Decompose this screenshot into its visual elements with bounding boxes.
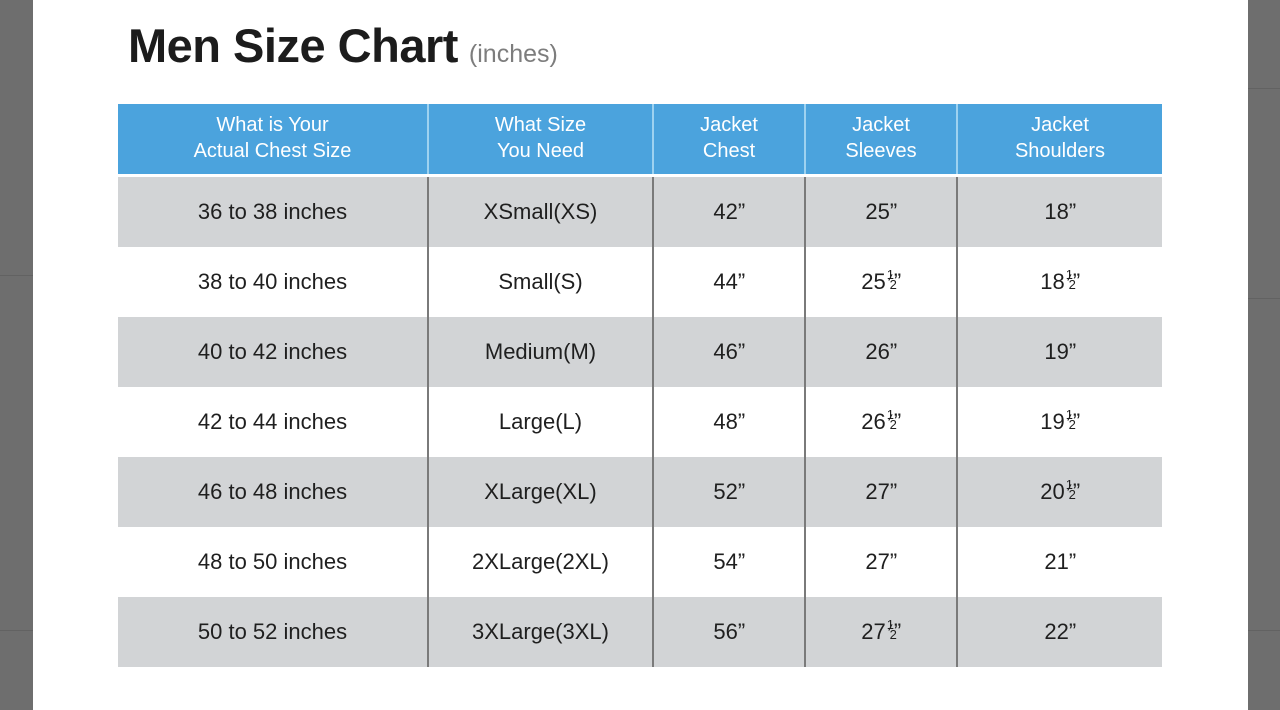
table-row: 48 to 50 inches2XLarge(2XL)54”27”21” [118,527,1162,597]
header-line-2: Chest [654,139,804,165]
cell-jacket-chest: 48” [653,387,805,457]
title-main-text: Men Size Chart [128,22,458,69]
header-line-2: You Need [429,139,652,165]
cell-actual-chest: 48 to 50 inches [118,527,428,597]
men-size-chart-table: What is Your Actual Chest Size What Size… [118,104,1162,667]
cell-jacket-chest: 56” [653,597,805,667]
table-row: 36 to 38 inchesXSmall(XS)42”25”18” [118,176,1162,248]
header-line-2: Actual Chest Size [118,139,427,165]
cell-jacket-sleeves: 25” [805,176,957,248]
title-unit-text: (inches) [469,42,558,67]
cell-jacket-sleeves: 2512” [805,247,957,317]
cell-jacket-sleeves: 2712” [805,597,957,667]
cell-jacket-shoulders: 1812” [957,247,1162,317]
cell-size-needed: Large(L) [428,387,653,457]
letterbox-bar-left [0,0,33,710]
cell-jacket-chest: 52” [653,457,805,527]
cell-jacket-shoulders: 19” [957,317,1162,387]
column-header-jacket-shoulders: Jacket Shoulders [957,104,1162,176]
header-line-2: Sleeves [806,139,956,165]
header-line-2: Shoulders [958,139,1162,165]
cell-size-needed: Medium(M) [428,317,653,387]
size-chart-slide: Men Size Chart (inches) What is Your Act… [33,0,1248,710]
cell-jacket-chest: 42” [653,176,805,248]
table-row: 40 to 42 inchesMedium(M)46”26”19” [118,317,1162,387]
cell-actual-chest: 36 to 38 inches [118,176,428,248]
column-header-size-needed: What Size You Need [428,104,653,176]
table-row: 42 to 44 inchesLarge(L)48”2612”1912” [118,387,1162,457]
cell-actual-chest: 38 to 40 inches [118,247,428,317]
letterbox-bar-right [1248,0,1280,710]
cell-size-needed: Small(S) [428,247,653,317]
table-body: 36 to 38 inchesXSmall(XS)42”25”18”38 to … [118,176,1162,668]
slide-canvas: Men Size Chart (inches) What is Your Act… [0,0,1280,710]
page-title: Men Size Chart (inches) [128,22,558,69]
cell-jacket-chest: 44” [653,247,805,317]
cell-size-needed: 3XLarge(3XL) [428,597,653,667]
column-header-actual-chest: What is Your Actual Chest Size [118,104,428,176]
header-line-1: Jacket [1031,114,1089,136]
cell-jacket-shoulders: 21” [957,527,1162,597]
column-header-jacket-sleeves: Jacket Sleeves [805,104,957,176]
header-line-1: Jacket [700,114,758,136]
cell-jacket-sleeves: 27” [805,457,957,527]
cell-size-needed: 2XLarge(2XL) [428,527,653,597]
table-row: 38 to 40 inchesSmall(S)44”2512”1812” [118,247,1162,317]
cell-jacket-shoulders: 1912” [957,387,1162,457]
cell-size-needed: XLarge(XL) [428,457,653,527]
header-line-1: What Size [495,114,586,136]
cell-actual-chest: 40 to 42 inches [118,317,428,387]
column-header-jacket-chest: Jacket Chest [653,104,805,176]
table-header-row: What is Your Actual Chest Size What Size… [118,104,1162,176]
cell-actual-chest: 50 to 52 inches [118,597,428,667]
header-line-1: What is Your [216,114,328,136]
cell-jacket-sleeves: 2612” [805,387,957,457]
cell-jacket-sleeves: 26” [805,317,957,387]
header-line-1: Jacket [852,114,910,136]
table-row: 46 to 48 inchesXLarge(XL)52”27”2012” [118,457,1162,527]
cell-size-needed: XSmall(XS) [428,176,653,248]
table-header: What is Your Actual Chest Size What Size… [118,104,1162,176]
cell-jacket-shoulders: 22” [957,597,1162,667]
table-row: 50 to 52 inches3XLarge(3XL)56”2712”22” [118,597,1162,667]
cell-actual-chest: 42 to 44 inches [118,387,428,457]
cell-jacket-sleeves: 27” [805,527,957,597]
cell-actual-chest: 46 to 48 inches [118,457,428,527]
cell-jacket-shoulders: 18” [957,176,1162,248]
cell-jacket-shoulders: 2012” [957,457,1162,527]
cell-jacket-chest: 54” [653,527,805,597]
cell-jacket-chest: 46” [653,317,805,387]
